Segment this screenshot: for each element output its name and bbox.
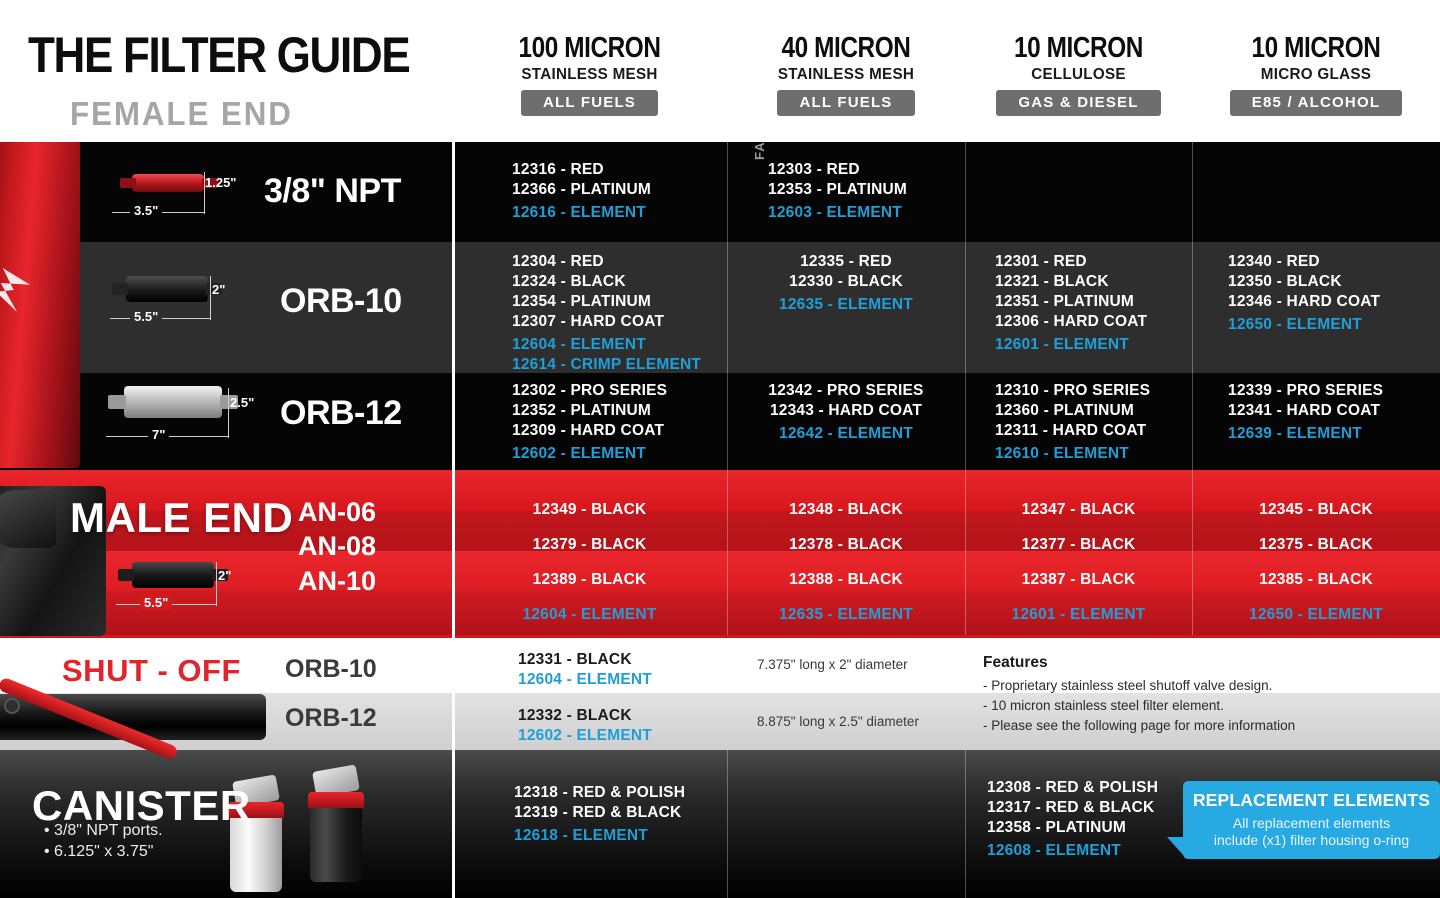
part-line: 12358 - PLATINUM: [987, 818, 1158, 838]
male-cell-r0c1: 12348 - BLACK: [727, 500, 965, 520]
male-cell-r1c3: 12375 - BLACK: [1192, 535, 1440, 555]
shutoff-size-orb12: ORB-12: [285, 704, 377, 733]
male-cell-r3c3: 12650 - ELEMENT: [1192, 605, 1440, 625]
column-header-sub: MICRO GLASS: [1198, 67, 1434, 83]
shutoff-title: SHUT - OFF: [62, 653, 241, 689]
column-header-10-micron-micro-glass: 10 MICRON MICRO GLASS E85 / ALCOHOL: [1192, 34, 1440, 116]
part-line: 12366 - PLATINUM: [512, 180, 651, 200]
male-cell-r3c2: 12601 - ELEMENT: [965, 605, 1192, 625]
dimline-orb12-v: [228, 388, 229, 438]
feature-item: - 10 micron stainless steel filter eleme…: [983, 696, 1295, 716]
column-header-badge: ALL FUELS: [521, 90, 658, 116]
filter-guide-page: 3.5" 1.25" 5.5" 2" 7" 2.5" 5.5" 2" THE F…: [0, 0, 1440, 898]
dim-orb12-length: 7": [148, 427, 169, 442]
part-line-element: 12608 - ELEMENT: [987, 841, 1158, 861]
part-line: 12304 - RED: [512, 252, 701, 272]
column-header-10-micron-cellulose: 10 MICRON CELLULOSE GAS & DIESEL: [965, 34, 1192, 116]
dim-orb10-diameter: 2": [212, 282, 225, 297]
male-cell-r2c2: 12387 - BLACK: [965, 570, 1192, 590]
shutoff-parts-orb10: 12331 - BLACK 12604 - ELEMENT: [518, 650, 652, 690]
cell-orb12-100micron: 12302 - PRO SERIES 12352 - PLATINUM 1230…: [512, 381, 667, 464]
filter-art-orb12: [108, 382, 238, 422]
part-line: 12385 - BLACK: [1192, 570, 1440, 590]
part-line: 12360 - PLATINUM: [995, 401, 1150, 421]
column-header-title: 40 MICRON: [746, 34, 946, 63]
part-line: 12389 - BLACK: [452, 570, 727, 590]
part-line: 12301 - RED: [995, 252, 1147, 272]
part-line-element: 12635 - ELEMENT: [727, 295, 965, 315]
cell-npt-100micron: 12316 - RED 12366 - PLATINUM 12616 - ELE…: [512, 160, 651, 223]
male-cell-r3c0: 12604 - ELEMENT: [452, 605, 727, 625]
feature-item: - Please see the following page for more…: [983, 716, 1295, 736]
cell-orb10-10micron-cellulose: 12301 - RED 12321 - BLACK 12351 - PLATIN…: [995, 252, 1147, 355]
part-line-element: 12601 - ELEMENT: [965, 605, 1192, 625]
part-line: 12306 - HARD COAT: [995, 312, 1147, 332]
page-title: THE FILTER GUIDE: [28, 26, 409, 84]
row-label-npt: 3/8" NPT: [264, 172, 401, 211]
column-header-title: 10 MICRON: [1212, 34, 1420, 63]
cell-orb10-40micron: 12335 - RED 12330 - BLACK 12635 - ELEMEN…: [727, 252, 965, 315]
row-label-orb12: ORB-12: [280, 394, 402, 433]
dim-npt-length: 3.5": [130, 203, 162, 218]
column-header-100-micron: 100 MICRON STAINLESS MESH ALL FUELS: [452, 34, 727, 116]
cell-orb10-10micron-microglass: 12340 - RED 12350 - BLACK 12346 - HARD C…: [1228, 252, 1380, 335]
male-cell-r1c0: 12379 - BLACK: [452, 535, 727, 555]
dim-npt-diameter: 1.25": [205, 175, 236, 190]
canister-cell-10micron-cellulose: 12308 - RED & POLISH 12317 - RED & BLACK…: [987, 778, 1158, 861]
column-header-sub: STAINLESS MESH: [733, 67, 959, 83]
part-line-element: 12616 - ELEMENT: [512, 203, 651, 223]
part-line: 12379 - BLACK: [452, 535, 727, 555]
canister-bullet: • 3/8" NPT ports.: [44, 822, 163, 840]
part-line-element: 12604 - ELEMENT: [518, 670, 652, 690]
part-line: 12310 - PRO SERIES: [995, 381, 1150, 401]
part-line-element: 12603 - ELEMENT: [768, 203, 907, 223]
canister-bullet: • 6.125" x 3.75": [44, 843, 153, 861]
part-line: 12330 - BLACK: [727, 272, 965, 292]
part-line: 12339 - PRO SERIES: [1228, 381, 1383, 401]
part-line: 12316 - RED: [512, 160, 651, 180]
part-line: 12321 - BLACK: [995, 272, 1147, 292]
part-line: 12317 - RED & BLACK: [987, 798, 1158, 818]
part-line: 12345 - BLACK: [1192, 500, 1440, 520]
part-line-element: 12642 - ELEMENT: [727, 424, 965, 444]
column-header-badge: GAS & DIESEL: [996, 90, 1160, 116]
part-line: 12324 - BLACK: [512, 272, 701, 292]
part-line: 12378 - BLACK: [727, 535, 965, 555]
column-divider-canister-2: [965, 750, 966, 898]
male-cell-r2c1: 12388 - BLACK: [727, 570, 965, 590]
part-line-element: 12639 - ELEMENT: [1228, 424, 1383, 444]
dimline-male-v: [216, 562, 217, 606]
canister-cell-100micron: 12318 - RED & POLISH 12319 - RED & BLACK…: [514, 783, 685, 846]
dim-male-diameter: 2": [218, 568, 231, 583]
column-divider-canister-1: [727, 750, 728, 898]
part-line: 12309 - HARD COAT: [512, 421, 667, 441]
vertical-separator: [452, 142, 455, 898]
part-line-element: 12650 - ELEMENT: [1192, 605, 1440, 625]
part-line: 12343 - HARD COAT: [727, 401, 965, 421]
part-line: 12302 - PRO SERIES: [512, 381, 667, 401]
male-cell-r0c2: 12347 - BLACK: [965, 500, 1192, 520]
row-label-orb10: ORB-10: [280, 282, 402, 321]
features-title: Features: [983, 654, 1295, 672]
part-line: 12331 - BLACK: [518, 650, 652, 670]
page-subtitle: FEMALE END: [70, 95, 293, 133]
callout-line-2: include (x1) filter housing o-ring: [1183, 832, 1440, 849]
page-header: THE FILTER GUIDE FEMALE END 100 MICRON S…: [0, 0, 1440, 142]
part-line-element: 12650 - ELEMENT: [1228, 315, 1380, 335]
part-line-element: 12610 - ELEMENT: [995, 444, 1150, 464]
feature-item: - Proprietary stainless steel shutoff va…: [983, 676, 1295, 696]
part-line-element: 12618 - ELEMENT: [514, 826, 685, 846]
part-line: 12375 - BLACK: [1192, 535, 1440, 555]
part-line: 12349 - BLACK: [452, 500, 727, 520]
filter-art-npt: [118, 168, 218, 198]
part-line: 12342 - PRO SERIES: [727, 381, 965, 401]
part-line: 12335 - RED: [727, 252, 965, 272]
replacement-elements-callout: REPLACEMENT ELEMENTS All replacement ele…: [1183, 781, 1440, 859]
dim-orb12-diameter: 2.5": [230, 395, 254, 410]
column-header-title: 10 MICRON: [983, 34, 1174, 63]
part-line: 12308 - RED & POLISH: [987, 778, 1158, 798]
band-orb10: [0, 242, 1440, 373]
part-line: 12318 - RED & POLISH: [514, 783, 685, 803]
column-header-badge: ALL FUELS: [777, 90, 914, 116]
part-line: 12332 - BLACK: [518, 706, 652, 726]
male-cell-r3c1: 12635 - ELEMENT: [727, 605, 965, 625]
cell-orb12-10micron-microglass: 12339 - PRO SERIES 12341 - HARD COAT 126…: [1228, 381, 1383, 444]
part-line: 12341 - HARD COAT: [1228, 401, 1383, 421]
part-line: 12377 - BLACK: [965, 535, 1192, 555]
dim-orb10-length: 5.5": [130, 309, 162, 324]
part-line-element: 12614 - CRIMP ELEMENT: [512, 355, 701, 375]
male-cell-r2c3: 12385 - BLACK: [1192, 570, 1440, 590]
male-cell-r1c1: 12378 - BLACK: [727, 535, 965, 555]
shutoff-dimensions-orb12: 8.875" long x 2.5" diameter: [757, 714, 919, 729]
part-line-element: 12635 - ELEMENT: [727, 605, 965, 625]
male-cell-r1c2: 12377 - BLACK: [965, 535, 1192, 555]
callout-line-1: All replacement elements: [1183, 815, 1440, 832]
shutoff-size-orb10: ORB-10: [285, 655, 377, 684]
male-end-size-an08: AN-08: [298, 531, 376, 562]
part-line: 12354 - PLATINUM: [512, 292, 701, 312]
column-header-badge: E85 / ALCOHOL: [1230, 90, 1402, 116]
part-line: 12352 - PLATINUM: [512, 401, 667, 421]
part-line-element: 12601 - ELEMENT: [995, 335, 1147, 355]
male-end-size-an06: AN-06: [298, 497, 376, 528]
part-line: 12353 - PLATINUM: [768, 180, 907, 200]
part-line: 12347 - BLACK: [965, 500, 1192, 520]
part-line: 12340 - RED: [1228, 252, 1380, 272]
part-line: 12307 - HARD COAT: [512, 312, 701, 332]
column-header-sub: CELLULOSE: [971, 67, 1187, 83]
part-line: 12388 - BLACK: [727, 570, 965, 590]
cell-npt-40micron: 12303 - RED 12353 - PLATINUM 12603 - ELE…: [768, 160, 907, 223]
cell-orb10-100micron: 12304 - RED 12324 - BLACK 12354 - PLATIN…: [512, 252, 701, 375]
dimline-orb10-v: [210, 276, 211, 320]
shutoff-dimensions-orb10: 7.375" long x 2" diameter: [757, 657, 908, 672]
filter-art-male: [118, 558, 226, 592]
part-line: 12311 - HARD COAT: [995, 421, 1150, 441]
part-line-element: 12602 - ELEMENT: [518, 726, 652, 746]
male-end-title: MALE END: [70, 494, 293, 542]
column-header-title: 100 MICRON: [474, 34, 705, 63]
column-header-sub: STAINLESS MESH: [459, 67, 720, 83]
part-line: 12387 - BLACK: [965, 570, 1192, 590]
cell-orb12-10micron-cellulose: 12310 - PRO SERIES 12360 - PLATINUM 1231…: [995, 381, 1150, 464]
callout-title: REPLACEMENT ELEMENTS: [1183, 790, 1440, 811]
male-end-size-an10: AN-10: [298, 566, 376, 597]
male-cell-r0c3: 12345 - BLACK: [1192, 500, 1440, 520]
part-line-element: 12604 - ELEMENT: [512, 335, 701, 355]
part-line: 12346 - HARD COAT: [1228, 292, 1380, 312]
red-canister-art: [0, 118, 80, 468]
shutoff-parts-orb12: 12332 - BLACK 12602 - ELEMENT: [518, 706, 652, 746]
filter-art-orb10: [112, 272, 220, 306]
column-divider-1: [727, 142, 728, 635]
divider-red-rule: [0, 635, 1440, 638]
part-line: 12350 - BLACK: [1228, 272, 1380, 292]
canister-art-black: [308, 768, 366, 882]
part-line: 12351 - PLATINUM: [995, 292, 1147, 312]
part-line: 12303 - RED: [768, 160, 907, 180]
part-line-element: 12602 - ELEMENT: [512, 444, 667, 464]
dim-male-length: 5.5": [140, 595, 172, 610]
part-line-element: 12604 - ELEMENT: [452, 605, 727, 625]
column-header-40-micron: 40 MICRON STAINLESS MESH ALL FUELS: [727, 34, 965, 116]
column-divider-3: [1192, 142, 1193, 635]
features-block: Features - Proprietary stainless steel s…: [983, 654, 1295, 736]
part-line: 12348 - BLACK: [727, 500, 965, 520]
part-line: 12319 - RED & BLACK: [514, 803, 685, 823]
cell-orb12-40micron: 12342 - PRO SERIES 12343 - HARD COAT 126…: [727, 381, 965, 444]
male-cell-r0c0: 12349 - BLACK: [452, 500, 727, 520]
male-cell-r2c0: 12389 - BLACK: [452, 570, 727, 590]
column-divider-2: [965, 142, 966, 635]
